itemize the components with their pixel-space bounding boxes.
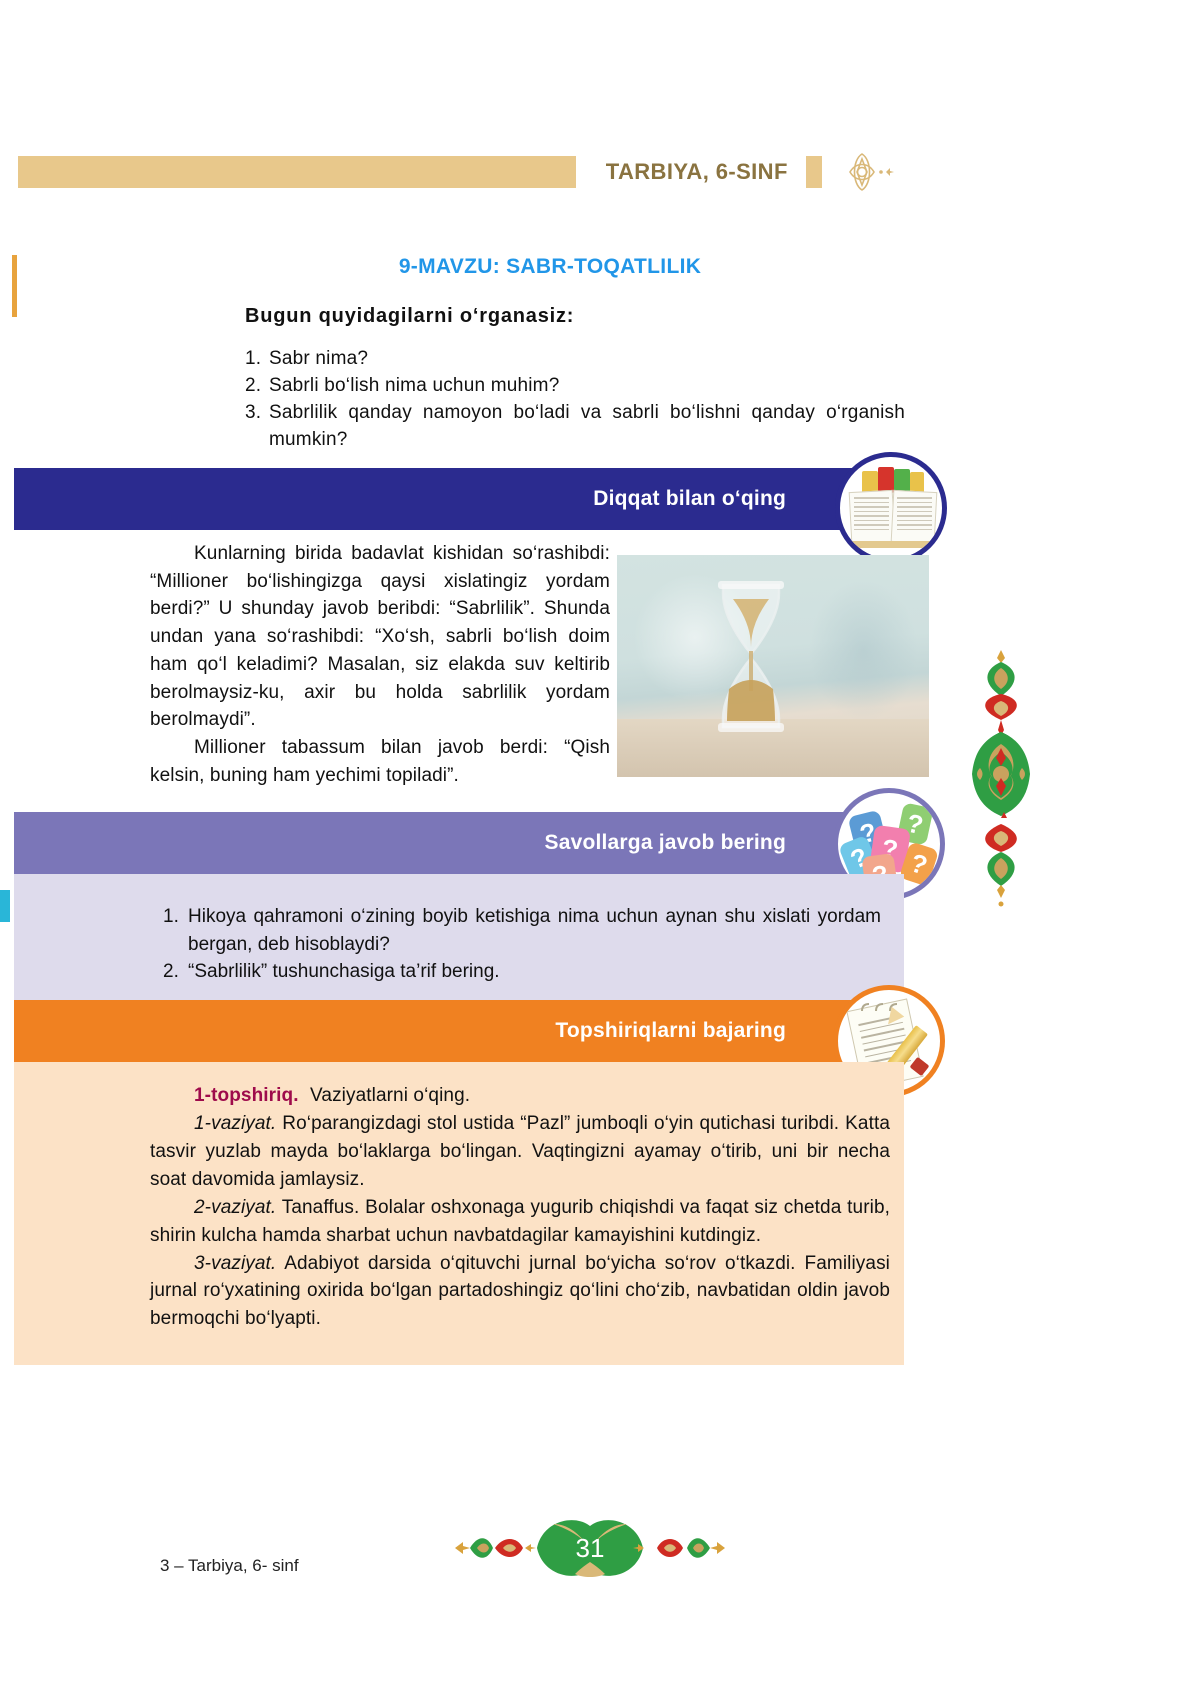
- page-title: 9-MAVZU: SABR-TOQATLILIK: [0, 255, 1100, 279]
- task-number-label: 1-topshiriq.: [194, 1085, 299, 1106]
- list-item-number: 1.: [163, 903, 188, 958]
- page-number: 31: [425, 1512, 755, 1584]
- list-item-text: Sabrli bo‘lish nima uchun muhim?: [269, 373, 905, 400]
- list-item: 1. Sabr nima?: [245, 346, 905, 373]
- situation-paragraph: 2-vaziyat. Tanaffus. Bolalar oshxonaga y…: [150, 1194, 890, 1250]
- open-book-icon: [835, 452, 947, 564]
- left-edge-cyan-mark: [0, 890, 10, 922]
- header-accent-square: [806, 156, 822, 188]
- situation-paragraph: 3-vaziyat. Adabiyot darsida o‘qituvchi j…: [150, 1250, 890, 1334]
- section-banner-tasks: Topshiriqlarni bajaring: [14, 1000, 904, 1062]
- header-decorative-bar: [18, 156, 576, 188]
- vertical-floral-ornament-icon: [960, 648, 1042, 913]
- list-item: 2. “Sabrlilik” tushunchasiga ta’rif beri…: [163, 958, 881, 986]
- intro-heading: Bugun quyidagilarni o‘rganasiz:: [245, 305, 905, 328]
- list-item-text: Sabr nima?: [269, 346, 905, 373]
- intro-block: Bugun quyidagilarni o‘rganasiz: 1. Sabr …: [245, 305, 905, 454]
- situation-label: 1-vaziyat.: [194, 1113, 276, 1134]
- list-item-number: 3.: [245, 400, 269, 454]
- list-item: 3. Sabrlilik qanday namoyon bo‘ladi va s…: [245, 400, 905, 454]
- reading-paragraph: Kunlarning birida badavlat kishidan so‘r…: [150, 540, 610, 734]
- list-item: 1. Hikoya qahramoni o‘zining boyib ketis…: [163, 903, 881, 958]
- list-item-number: 2.: [245, 373, 269, 400]
- list-item-text: Sabrlilik qanday namoyon bo‘ladi va sabr…: [269, 400, 905, 454]
- list-item-text: Hikoya qahramoni o‘zining boyib ketishig…: [188, 903, 881, 958]
- list-item-text: “Sabrlilik” tushunchasiga ta’rif bering.: [188, 958, 881, 986]
- book-signature: 3 – Tarbiya, 6- sinf: [160, 1556, 299, 1576]
- list-item-number: 1.: [245, 346, 269, 373]
- header-title: TARBIYA, 6-SINF: [606, 159, 788, 185]
- section-banner-read: Diqqat bilan o‘qing: [14, 468, 904, 530]
- tasks-content: 1-topshiriq. Vaziyatlarni o‘qing. 1-vazi…: [150, 1082, 890, 1333]
- reading-passage: Kunlarning birida badavlat kishidan so‘r…: [150, 540, 610, 790]
- reading-paragraph: Millioner tabassum bilan javob berdi: “Q…: [150, 734, 610, 789]
- list-item-number: 2.: [163, 958, 188, 986]
- hourglass-photo: [617, 555, 929, 777]
- section-banner-questions: Savollarga javob bering: [14, 812, 904, 874]
- situation-label: 3-vaziyat.: [194, 1253, 276, 1274]
- intro-objectives-list: 1. Sabr nima? 2. Sabrli bo‘lish nima uch…: [245, 346, 905, 454]
- task-instruction-line: 1-topshiriq. Vaziyatlarni o‘qing.: [150, 1082, 890, 1110]
- situation-label: 2-vaziyat.: [194, 1197, 276, 1218]
- islamic-star-ornament-icon: [832, 150, 898, 194]
- page-number-badge: 31: [425, 1512, 755, 1584]
- task-instruction-text: Vaziyatlarni o‘qing.: [310, 1085, 470, 1106]
- questions-list: 1. Hikoya qahramoni o‘zining boyib ketis…: [163, 903, 881, 986]
- page-header: TARBIYA, 6-SINF: [18, 152, 898, 192]
- situation-paragraph: 1-vaziyat. Ro‘parangizdagi stol ustida “…: [150, 1110, 890, 1194]
- list-item: 2. Sabrli bo‘lish nima uchun muhim?: [245, 373, 905, 400]
